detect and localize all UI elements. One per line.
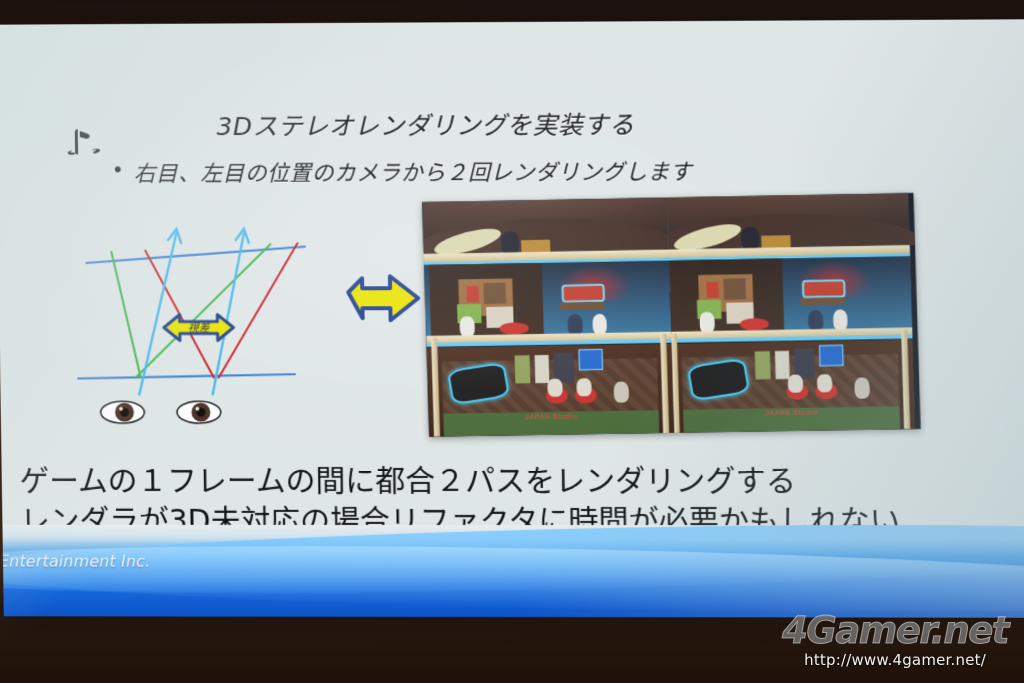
left-eye-view: △○✕□ JAPAN Studio: [422, 197, 674, 436]
far-plane-line: [85, 247, 306, 264]
near-plane-line: [77, 374, 295, 378]
right-eye-view: △○✕□ JAPAN Studio: [667, 193, 921, 433]
stereo-render-sample: △○✕□ JAPAN Studio: [422, 193, 921, 437]
japan-studio-mark: JAPAN Studio: [524, 413, 577, 421]
projection-area: 3Dステレオレンダリングを実装する • 右目、左目の位置のカメラから２回レンダリ…: [0, 0, 1024, 683]
bullet-marker: •: [114, 156, 122, 182]
watermark: 4Gamer.net http://www.4gamer.net/: [782, 613, 1008, 669]
parallax-diagram: 視差: [67, 211, 338, 436]
watermark-logo: 4Gamer.net: [782, 613, 1008, 649]
presentation-slide: 3Dステレオレンダリングを実装する • 右目、左目の位置のカメラから２回レンダリ…: [0, 19, 1024, 617]
playstation-logo: [66, 126, 106, 160]
right-view-axis: [210, 233, 246, 396]
right-eye: [177, 401, 221, 423]
slide-title: 3Dステレオレンダリングを実装する: [216, 105, 837, 144]
bullet-line: • 右目、左目の位置のカメラから２回レンダリングします: [114, 154, 874, 189]
yellow-right-arrow-shape: [348, 276, 418, 320]
japan-studio-mark: JAPAN Studio: [765, 409, 818, 417]
parallax-label: 視差: [188, 322, 211, 335]
footer-copyright: Entertainment Inc.: [0, 552, 151, 571]
left-eye: [101, 401, 145, 423]
left-frustum-line-a: [111, 251, 141, 378]
conclusion-line-1: ゲームの１フレームの間に都合２パスをレンダリングする: [19, 456, 796, 500]
bullet-text: 右目、左目の位置のカメラから２回レンダリングします: [133, 154, 692, 188]
transition-arrow: [344, 269, 423, 327]
watermark-url: http://www.4gamer.net/: [782, 651, 1008, 669]
slide-footer-band: [2, 525, 1024, 618]
